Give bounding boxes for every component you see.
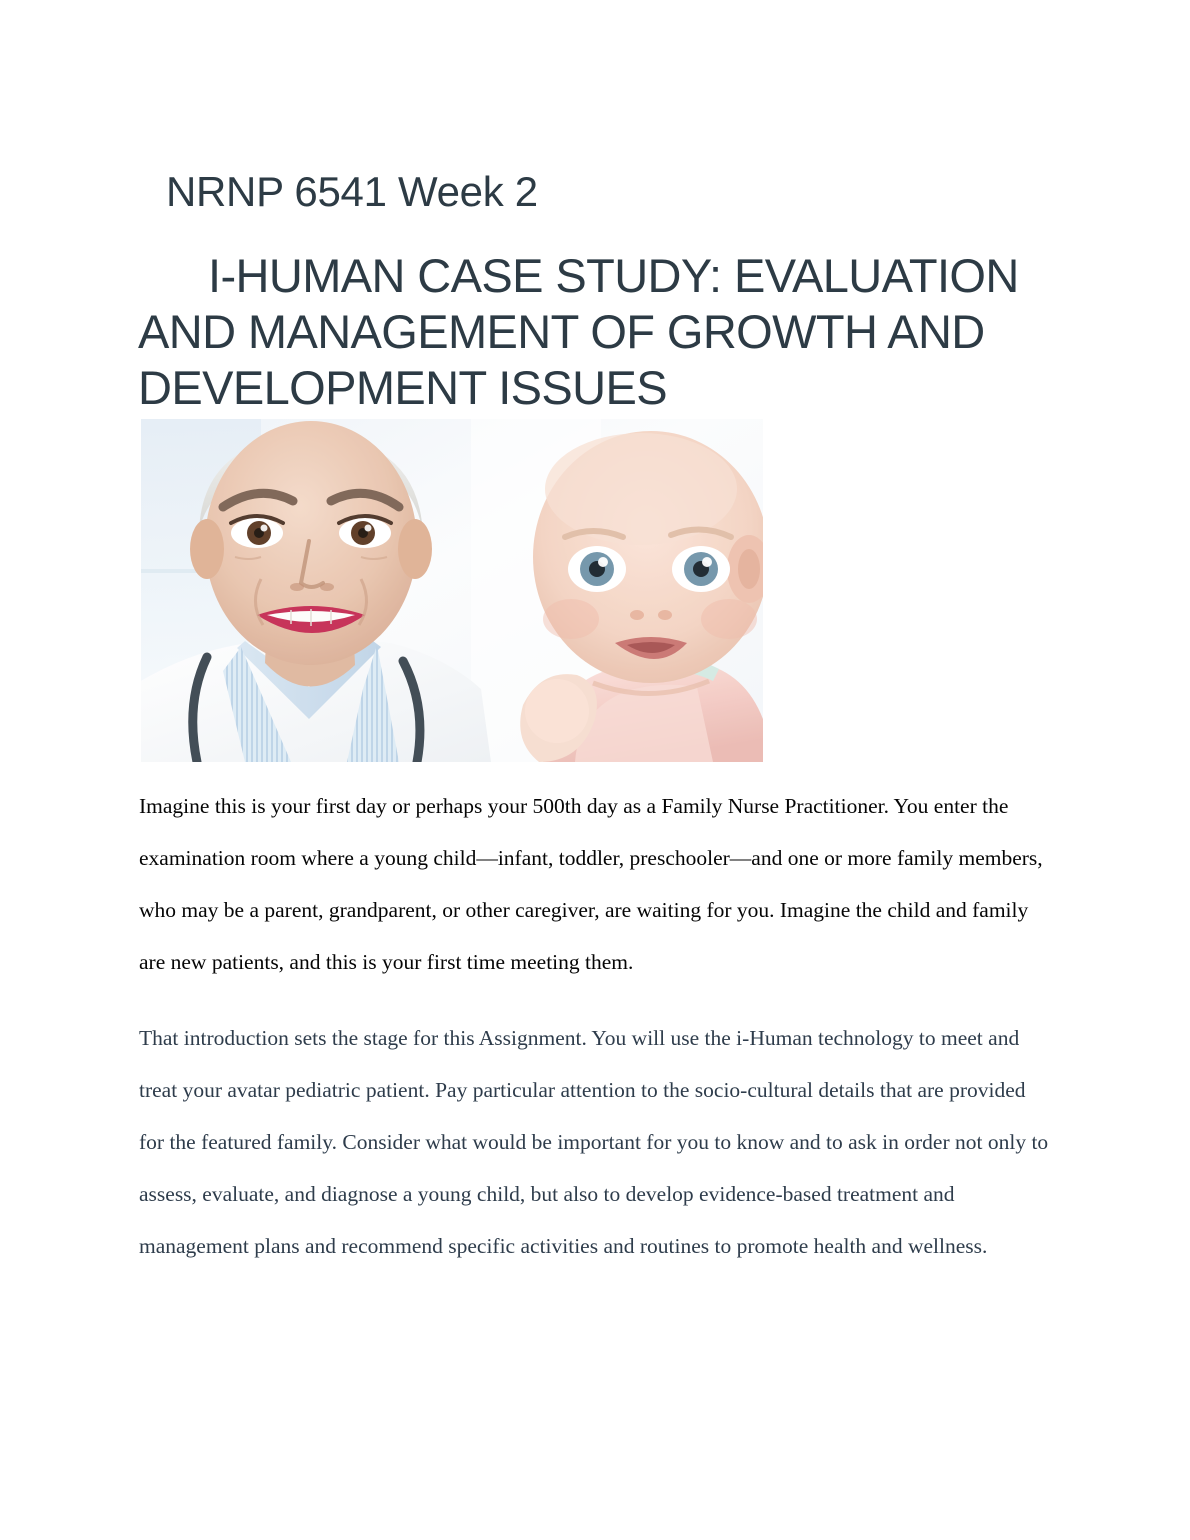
document-page: NRNP 6541 Week 2 I-HUMAN CASE STUDY: EVA… (0, 0, 1190, 1540)
paragraph-intro: Imagine this is your first day or perhap… (139, 780, 1052, 988)
paragraph-assignment: That introduction sets the stage for thi… (139, 1012, 1052, 1272)
hero-photo (141, 419, 763, 762)
document-heading: NRNP 6541 Week 2 (138, 168, 1058, 216)
page-title: I-HUMAN CASE STUDY: EVALUATION AND MANAG… (138, 248, 1068, 416)
doctor-and-baby-illustration (141, 419, 763, 762)
